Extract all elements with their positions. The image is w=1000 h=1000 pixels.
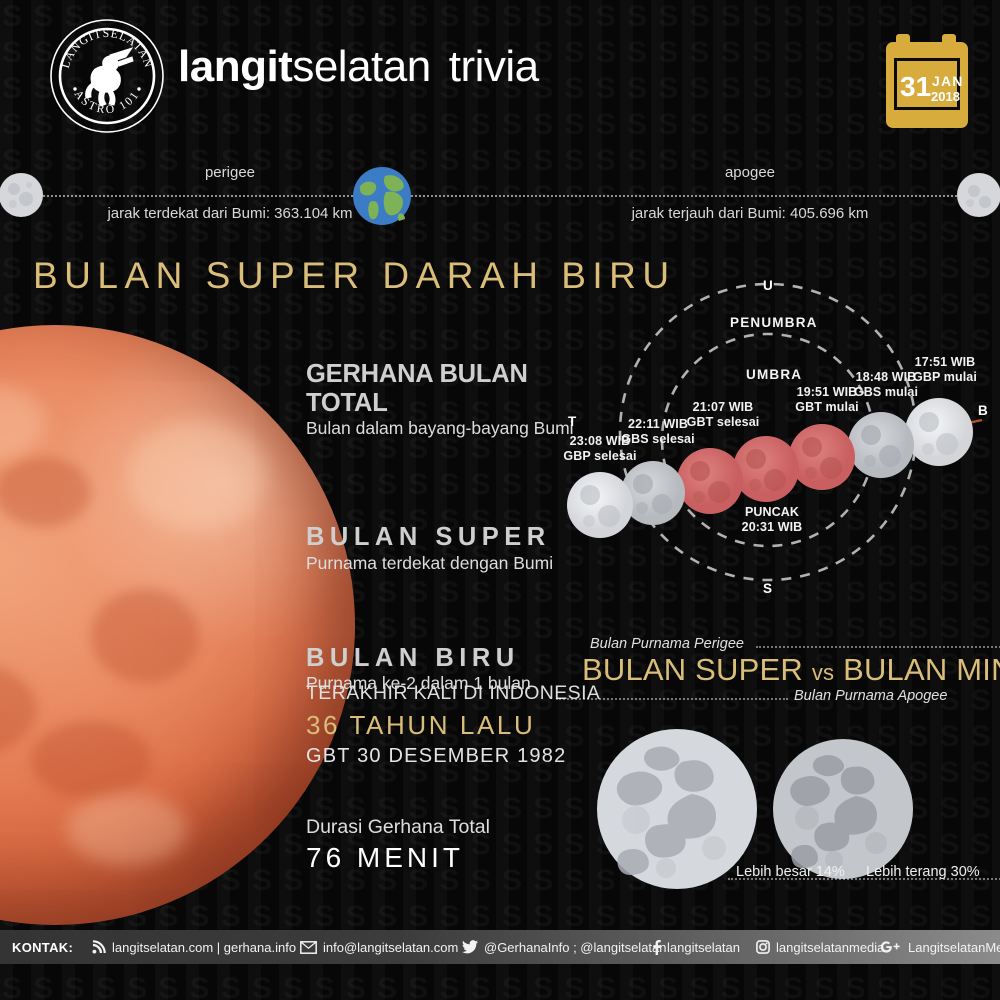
supermoon-illustration bbox=[596, 728, 758, 890]
peak-text: PUNCAK bbox=[745, 505, 799, 519]
feature-heading: BULAN BIRU bbox=[306, 644, 596, 673]
umbra-label: UMBRA bbox=[746, 367, 802, 382]
apogee-label: apogee bbox=[620, 164, 880, 181]
footer-googleplus-item[interactable]: LangitselatanMedia bbox=[880, 930, 1000, 964]
footer-twitter-text: @GerhanaInfo ; @langitselatan bbox=[484, 940, 667, 955]
page-header: LANGITSELATAN ASTRO 101 langitselatantri… bbox=[0, 0, 1000, 150]
rss-icon bbox=[92, 940, 106, 954]
svm-title: BULAN SUPER vs BULAN MINI bbox=[582, 652, 1000, 688]
phase-event: GBT selesai bbox=[687, 415, 760, 429]
svm-title-vs: vs bbox=[812, 660, 834, 685]
footer-website-text: langitselatan.com | gerhana.info bbox=[112, 940, 296, 955]
phase-event: GBS selesai bbox=[621, 432, 694, 446]
footer-website-item[interactable]: langitselatan.com | gerhana.info bbox=[92, 930, 296, 964]
moon-phase-gbs-mulai bbox=[848, 412, 914, 478]
direction-south-label: S bbox=[763, 581, 772, 596]
phase-time: 17:51 WIB bbox=[915, 355, 976, 369]
super-vs-mini-section: Bulan Purnama Perigee BULAN SUPER vs BUL… bbox=[556, 630, 1000, 900]
kontak-label: KONTAK: bbox=[12, 930, 73, 964]
direction-north-label: U bbox=[763, 278, 773, 293]
googleplus-icon bbox=[880, 940, 902, 954]
calendar-day-text: 31 bbox=[900, 71, 931, 102]
phase-label-gbt-selesai: 21:07 WIB GBT selesai bbox=[668, 400, 778, 430]
footer-facebook-item[interactable]: langitselatan bbox=[652, 930, 740, 964]
moon-phase-gbt-mulai bbox=[789, 424, 855, 490]
moon-phase-gbp-mulai bbox=[905, 398, 973, 466]
phase-event: GBP mulai bbox=[913, 370, 977, 384]
phase-event: GBT mulai bbox=[795, 400, 858, 414]
footer-googleplus-text: LangitselatanMedia bbox=[908, 940, 1000, 955]
svm-bottom-dotted-rule bbox=[556, 698, 788, 700]
caption-size: Lebih besar 14% bbox=[736, 864, 845, 880]
svm-title-right: BULAN MINI bbox=[843, 652, 1000, 687]
perigee-caption: Bulan Purnama Perigee bbox=[590, 636, 744, 652]
perigee-distance: jarak terdekat dari Bumi: 363.104 km bbox=[50, 205, 410, 222]
phase-label-gbp-mulai: 17:51 WIB GBP mulai bbox=[890, 355, 1000, 385]
langitselatan-logo-icon: LANGITSELATAN ASTRO 101 bbox=[48, 17, 166, 135]
phase-event: GBP selesai bbox=[563, 449, 636, 463]
wordmark-langit: langit bbox=[178, 42, 292, 91]
wordmark-selatan: selatan bbox=[292, 42, 430, 91]
footer-email-item[interactable]: info@langitselatan.com bbox=[300, 930, 458, 964]
facebook-icon bbox=[652, 940, 661, 955]
peak-label: PUNCAK 20:31 WIB bbox=[712, 505, 832, 535]
perigee-label: perigee bbox=[100, 164, 360, 181]
footer-twitter-item[interactable]: @GerhanaInfo ; @langitselatan bbox=[462, 930, 667, 964]
orbit-dotted-line bbox=[0, 195, 1000, 197]
moon-icon-apogee bbox=[956, 172, 1000, 218]
moon-phase-gbp-selesai bbox=[567, 472, 633, 538]
brand-wordmark: langitselatantrivia bbox=[178, 42, 539, 92]
footer-facebook-text: langitselatan bbox=[667, 940, 740, 955]
direction-west-label: B bbox=[978, 403, 988, 418]
direction-east-label: T bbox=[568, 414, 576, 429]
footer-instagram-text: langitselatanmedia bbox=[776, 940, 884, 955]
penumbra-label: PENUMBRA bbox=[730, 315, 818, 330]
twitter-icon bbox=[462, 940, 478, 954]
caption-brightness: Lebih terang 30% bbox=[866, 864, 980, 880]
apogee-distance: jarak terjauh dari Bumi: 405.696 km bbox=[560, 205, 940, 222]
orbit-distance-band: perigee jarak terdekat dari Bumi: 363.10… bbox=[0, 150, 1000, 240]
footer-email-text: info@langitselatan.com bbox=[323, 940, 458, 955]
blood-moon-illustration bbox=[0, 325, 355, 925]
envelope-icon bbox=[300, 941, 317, 954]
eclipse-path-diagram: PENUMBRA UMBRA U S T B 23:08 WIB GBP sel… bbox=[550, 272, 1000, 612]
phase-time: 21:07 WIB bbox=[693, 400, 754, 414]
phase-event: GBS mulai bbox=[854, 385, 918, 399]
calendar-month-text: JAN bbox=[932, 73, 964, 89]
contact-footer-bar: KONTAK: langitselatan.com | gerhana.info… bbox=[0, 930, 1000, 964]
footer-instagram-item[interactable]: langitselatanmedia bbox=[756, 930, 884, 964]
moon-phase-puncak bbox=[733, 436, 799, 502]
svm-top-dotted-rule bbox=[756, 646, 1000, 648]
apogee-caption: Bulan Purnama Apogee bbox=[794, 688, 947, 704]
micromoon-illustration bbox=[772, 738, 914, 880]
moon-icon-perigee bbox=[0, 172, 44, 218]
instagram-icon bbox=[756, 940, 770, 954]
wordmark-trivia: trivia bbox=[449, 42, 539, 91]
svm-title-left: BULAN SUPER bbox=[582, 652, 803, 687]
calendar-icon: 31 JAN 2018 bbox=[884, 32, 970, 132]
peak-time: 20:31 WIB bbox=[742, 520, 803, 534]
calendar-year-text: 2018 bbox=[931, 89, 960, 104]
